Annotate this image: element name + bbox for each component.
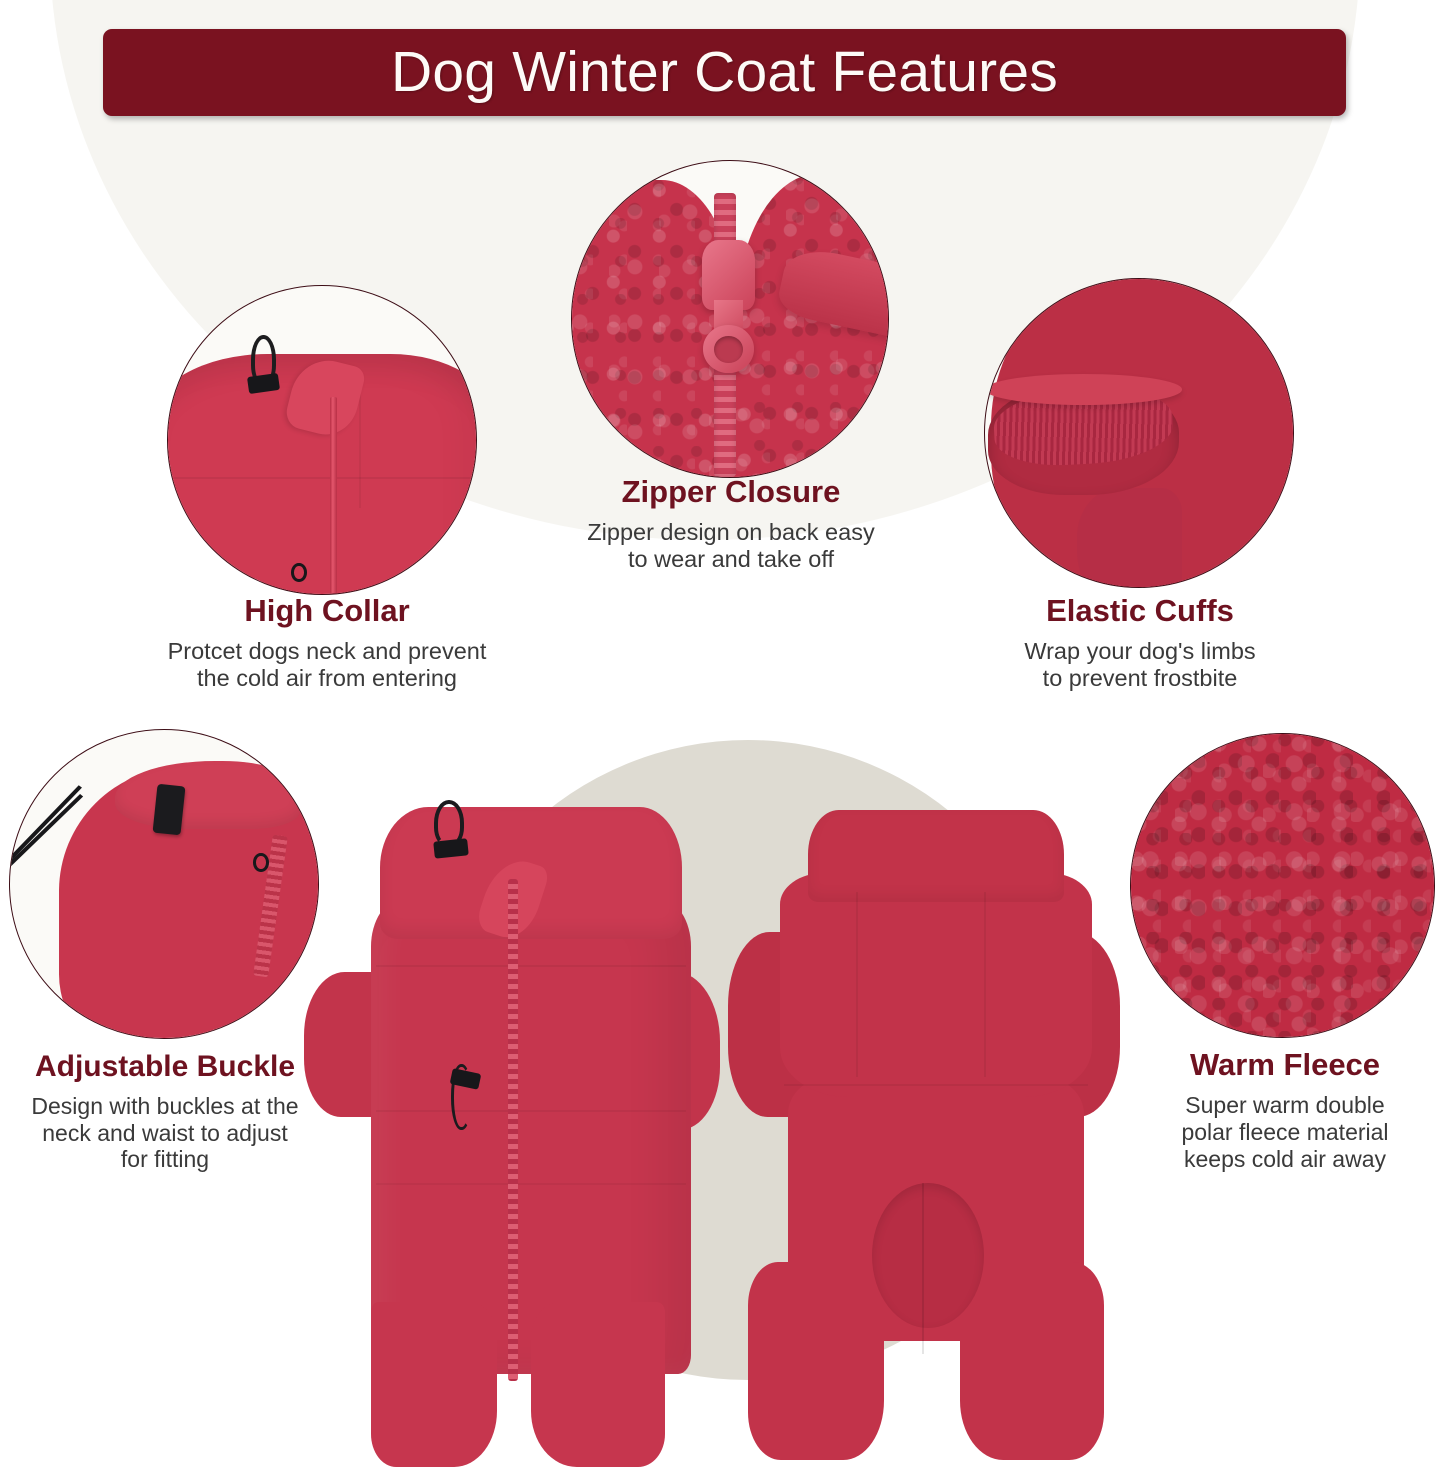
warm-fleece-description: Super warm double polar fleece material …	[1125, 1092, 1445, 1173]
collar-grommet-icon	[291, 563, 306, 581]
front-zipper	[508, 879, 518, 1381]
caption-zipper-closure: Zipper Closure Zipper design on back eas…	[521, 475, 941, 574]
cuffs-image-content	[985, 279, 1293, 587]
zipper-fabric-left	[571, 180, 736, 478]
infographic-page: Dog Winter Coat Features	[0, 0, 1445, 1468]
front-leg-left	[371, 1302, 497, 1467]
back-seam-waist	[784, 1084, 1088, 1086]
buckle-ring-icon	[253, 853, 268, 871]
back-leg-left	[748, 1262, 884, 1460]
product-back-view	[720, 800, 1120, 1460]
cuff-lower-fabric	[1077, 488, 1182, 588]
fleece-texture	[1131, 734, 1434, 1037]
caption-warm-fleece: Warm Fleece Super warm double polar flee…	[1125, 1048, 1445, 1172]
adjustable-buckle-photo	[9, 729, 319, 1039]
zipper-closure-photo	[571, 160, 889, 478]
back-upper-body	[780, 873, 1092, 1097]
elastic-cuffs-title: Elastic Cuffs	[930, 594, 1350, 629]
elastic-cuffs-description: Wrap your dog's limbs to prevent frostbi…	[930, 638, 1350, 693]
adjustable-buckle-title: Adjustable Buckle	[0, 1050, 330, 1084]
high-collar-photo	[167, 285, 477, 595]
back-belly-opening	[872, 1183, 984, 1328]
buckle-collar-top	[115, 761, 300, 829]
elastic-cuffs-photo	[984, 278, 1294, 588]
page-title-banner: Dog Winter Coat Features	[103, 29, 1346, 116]
zipper-closure-title: Zipper Closure	[521, 475, 941, 510]
warm-fleece-photo	[1130, 733, 1435, 1038]
front-seam-yoke	[376, 965, 687, 967]
zipper-closure-description: Zipper design on back easy to wear and t…	[521, 519, 941, 574]
buckle-image-content	[10, 730, 318, 1038]
high-collar-image-content	[168, 286, 476, 594]
back-leg-right	[960, 1262, 1104, 1460]
adjustable-buckle-description: Design with buckles at the neck and wais…	[0, 1093, 330, 1174]
collar-zipper	[330, 397, 337, 594]
zipper-pull-hole	[714, 336, 742, 363]
caption-elastic-cuffs: Elastic Cuffs Wrap your dog's limbs to p…	[930, 594, 1350, 693]
front-neck-cord-stopper-icon	[434, 838, 469, 859]
high-collar-description: Protcet dogs neck and prevent the cold a…	[107, 638, 547, 693]
back-belly-seam	[922, 1183, 924, 1355]
back-collar	[808, 810, 1064, 902]
front-seam-middle	[376, 1110, 687, 1112]
collar-seam-horizontal	[174, 477, 470, 479]
zipper-image-content	[572, 161, 888, 477]
warm-fleece-title: Warm Fleece	[1125, 1048, 1445, 1083]
back-seam-right	[984, 892, 986, 1077]
back-seam-left	[856, 892, 858, 1077]
page-title: Dog Winter Coat Features	[391, 44, 1058, 101]
front-leg-right	[531, 1302, 665, 1467]
caption-adjustable-buckle: Adjustable Buckle Design with buckles at…	[0, 1050, 330, 1173]
caption-high-collar: High Collar Protcet dogs neck and preven…	[107, 594, 547, 693]
buckle-stopper-icon	[152, 784, 185, 836]
product-front-view	[300, 800, 720, 1460]
high-collar-title: High Collar	[107, 594, 547, 629]
front-seam-lower	[376, 1183, 687, 1185]
